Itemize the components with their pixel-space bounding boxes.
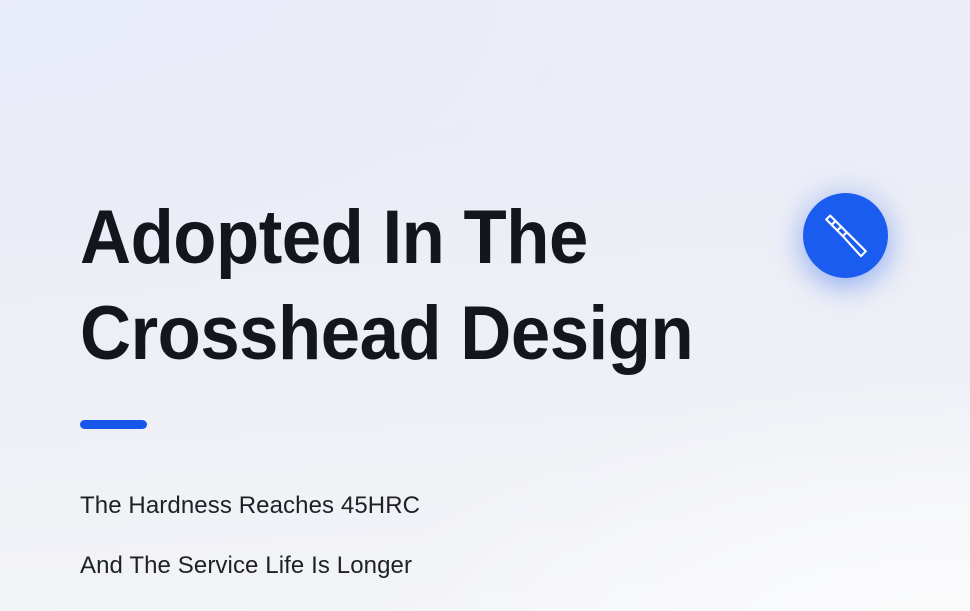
page-title: Adopted In The Crosshead Design bbox=[80, 190, 675, 382]
subtitle-line-1: The Hardness Reaches 45HRC bbox=[80, 476, 700, 536]
subtitle-line-2: And The Service Life Is Longer bbox=[80, 536, 700, 596]
product-feature-banner: Adopted In The Crosshead Design The Hard… bbox=[0, 0, 970, 611]
feature-icon-badge bbox=[803, 193, 888, 278]
headline-line-2: Crosshead Design bbox=[80, 286, 675, 382]
headline-line-1: Adopted In The bbox=[80, 190, 675, 286]
drill-bit-icon bbox=[820, 210, 872, 262]
subtitle-block: The Hardness Reaches 45HRC And The Servi… bbox=[80, 476, 700, 596]
accent-divider bbox=[80, 420, 147, 429]
headline-block: Adopted In The Crosshead Design bbox=[80, 190, 720, 382]
